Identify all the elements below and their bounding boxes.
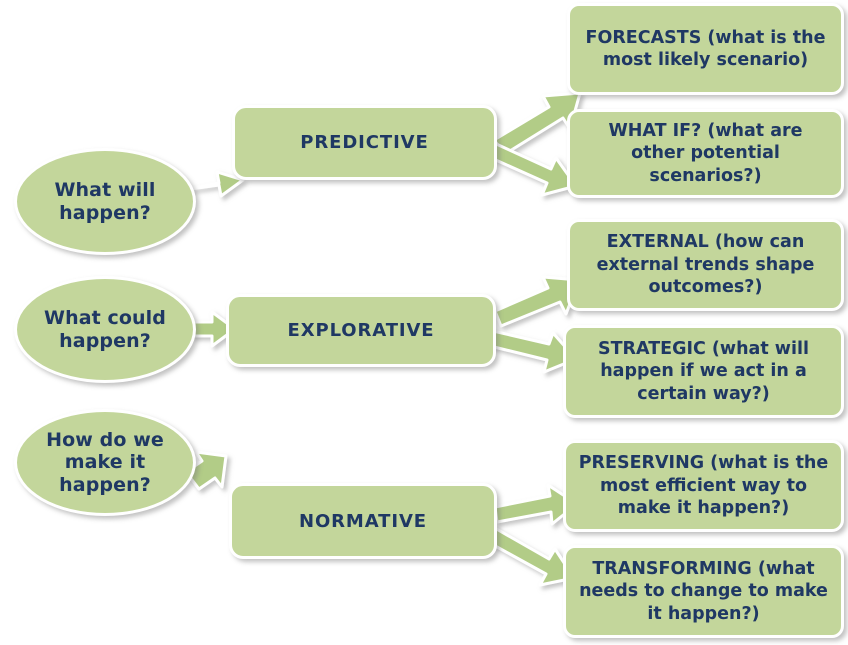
outcome-text-preserving: PRESERVING (what is the most efficient w… (578, 452, 829, 519)
arrow-normative-to-transforming (488, 527, 574, 585)
category-label-normative: NORMATIVE (299, 511, 427, 532)
outcome-text-external: EXTERNAL (how can external trends shape … (582, 231, 829, 298)
outcome-box-forecasts[interactable]: FORECASTS (what is the most likely scena… (567, 3, 844, 95)
question-2-line-1: What could (44, 307, 166, 329)
outcome-box-strategic[interactable]: STRATEGIC (what will happen if we act in… (563, 325, 844, 418)
question-3-line-1: How do we (46, 429, 164, 451)
category-box-normative[interactable]: NORMATIVE (229, 483, 497, 559)
question-ellipse-3[interactable]: How do we make it happen? (14, 409, 196, 516)
question-1-line-1: What will (55, 179, 156, 201)
outcome-box-external[interactable]: EXTERNAL (how can external trends shape … (567, 219, 844, 311)
outcome-text-strategic: STRATEGIC (what will happen if we act in… (578, 338, 829, 405)
category-box-predictive[interactable]: PREDICTIVE (232, 105, 497, 180)
category-box-explorative[interactable]: EXPLORATIVE (226, 294, 496, 367)
outcome-box-whatif[interactable]: WHAT IF? (what are other potential scena… (567, 109, 844, 198)
outcome-text-transforming: TRANSFORMING (what needs to change to ma… (578, 558, 829, 625)
question-ellipse-2[interactable]: What could happen? (14, 276, 196, 383)
outcome-text-forecasts: FORECASTS (what is the most likely scena… (582, 27, 829, 72)
category-label-predictive: PREDICTIVE (300, 132, 428, 153)
diagram-canvas: What will happen? What could happen? How… (0, 0, 848, 645)
outcome-text-whatif: WHAT IF? (what are other potential scena… (582, 120, 829, 187)
arrow-predictive-to-whatif (489, 143, 576, 195)
category-label-explorative: EXPLORATIVE (288, 320, 435, 341)
question-2-line-2: happen? (59, 330, 151, 352)
question-ellipse-1[interactable]: What will happen? (14, 148, 196, 255)
question-3-line-3: happen? (59, 474, 151, 496)
question-3-line-2: make it (65, 451, 146, 473)
outcome-box-transforming[interactable]: TRANSFORMING (what needs to change to ma… (563, 545, 844, 638)
question-1-line-2: happen? (59, 202, 151, 224)
outcome-box-preserving[interactable]: PRESERVING (what is the most efficient w… (563, 440, 844, 532)
